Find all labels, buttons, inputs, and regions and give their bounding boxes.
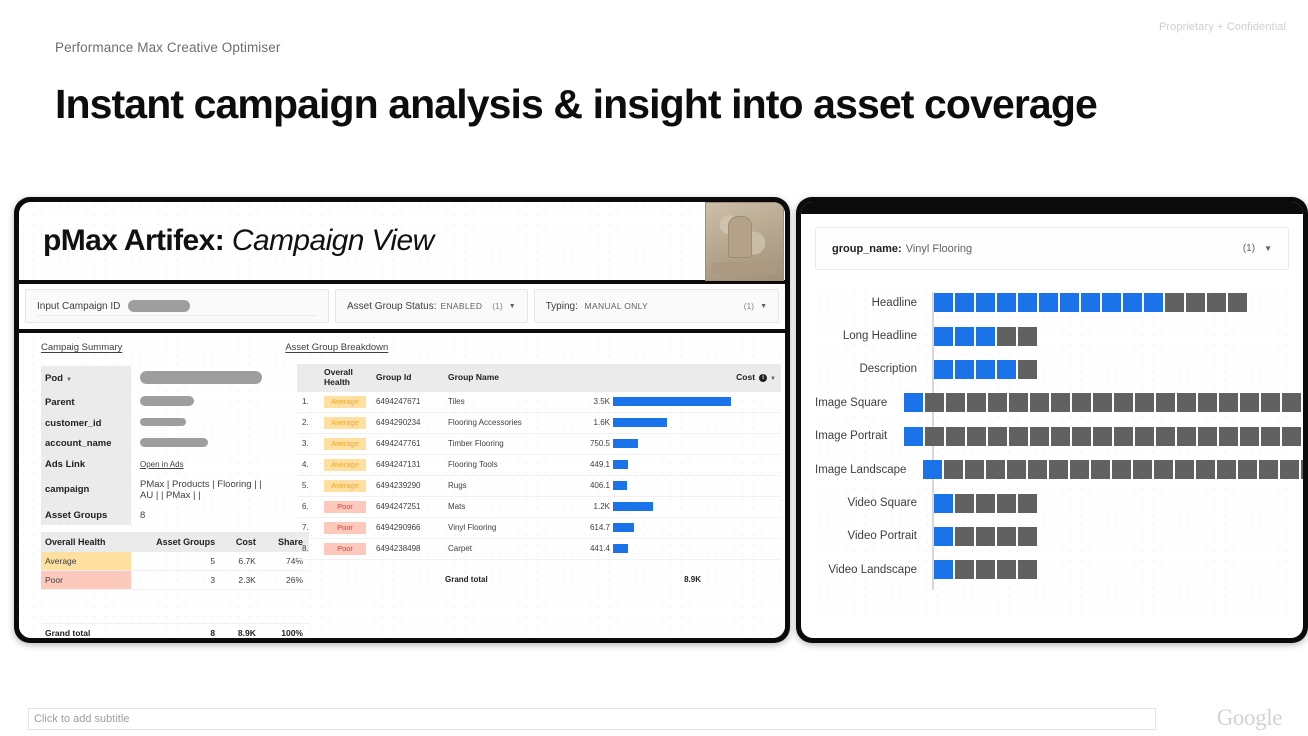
asset-missing-segment (1070, 460, 1089, 479)
chart-bar[interactable] (934, 560, 1037, 579)
table-row[interactable]: 3.Average6494247761Timber Flooring750.5 (297, 433, 781, 454)
row-group-id: 6494290966 (371, 517, 443, 538)
col-asset-groups[interactable]: Asset Groups (131, 532, 221, 552)
row-group-name: Carpet (443, 538, 569, 559)
summary-key-account-name: account_name (41, 433, 131, 454)
row-cost-bar (613, 523, 634, 532)
asset-group-status-label: Asset Group Status: (347, 301, 437, 312)
asset-missing-segment (1018, 560, 1037, 579)
asset-missing-segment (1112, 460, 1131, 479)
artifex-relief-image (705, 202, 784, 281)
asset-missing-segment (1280, 460, 1299, 479)
row-index: 3. (297, 433, 319, 454)
table-row[interactable]: 1.Average6494247671Tiles3.5K (297, 392, 781, 413)
row-group-id: 6494238498 (371, 538, 443, 559)
campaign-summary-table: Pod▼ Parent customer_id account_nam (41, 366, 269, 525)
table-header-row: Overall Health Group Id Group Name Costi… (297, 364, 781, 392)
asset-missing-segment (1165, 293, 1184, 312)
asset-present-segment (1123, 293, 1142, 312)
chart-category-label: Video Portrait (815, 530, 927, 542)
asset-missing-segment (967, 393, 986, 412)
col-cost[interactable]: Cost (221, 532, 262, 552)
health-grand-total-cost: 8.9K (221, 624, 262, 639)
chart-category-label: Description (815, 363, 927, 375)
asset-missing-segment (925, 393, 944, 412)
row-index: 8. (297, 538, 319, 559)
asset-missing-segment (1030, 427, 1049, 446)
asset-missing-segment (1228, 293, 1247, 312)
typing-count: (1) (744, 301, 754, 311)
chart-row: Image Portrait (815, 420, 1289, 453)
col-cost-label: Cost (736, 372, 755, 382)
table-row: Pod▼ (41, 366, 269, 391)
row-health: Poor (319, 517, 371, 538)
row-cost-value: 1.2K (574, 502, 610, 511)
dashboard-section-links: Campaig Summary Asset Group Breakdown (19, 333, 785, 357)
chart-row: Description (815, 353, 1289, 386)
row-cost: 614.7 (569, 517, 781, 538)
table-grand-total-row: Grand total 8 8.9K 100% (41, 624, 309, 639)
asset-missing-segment (1093, 393, 1112, 412)
row-cost: 3.5K (569, 392, 781, 413)
row-index: 7. (297, 517, 319, 538)
summary-value-account-name (131, 433, 269, 454)
asset-missing-segment (944, 460, 963, 479)
row-group-id: 6494290234 (371, 412, 443, 433)
row-index: 2. (297, 412, 319, 433)
summary-key-parent: Parent (41, 391, 131, 413)
table-row[interactable]: 8.Poor6494238498Carpet441.4 (297, 538, 781, 559)
slide-headline: Instant campaign analysis & insight into… (55, 82, 1097, 127)
asset-missing-segment (1219, 427, 1238, 446)
asset-missing-segment (1259, 460, 1278, 479)
row-group-name: Timber Flooring (443, 433, 569, 454)
asset-missing-segment (1198, 393, 1217, 412)
asset-present-segment (934, 560, 953, 579)
asset-missing-segment (1261, 393, 1280, 412)
summary-key-ads-link: Ads Link (41, 454, 131, 474)
breakdown-grand-total-label: Grand total (445, 575, 488, 584)
chevron-down-icon[interactable]: ▼ (760, 303, 767, 310)
row-cost-bar (613, 397, 731, 406)
asset-missing-segment (1240, 427, 1259, 446)
redacted-value (140, 418, 186, 426)
status-badge: Average (324, 417, 366, 429)
asset-missing-segment (1282, 393, 1301, 412)
asset-missing-segment (1177, 393, 1196, 412)
asset-present-segment (934, 494, 953, 513)
asset-present-segment (934, 293, 953, 312)
summary-value-asset-groups: 8 (131, 505, 269, 525)
asset-present-segment (904, 427, 923, 446)
row-group-name: Flooring Accessories (443, 412, 569, 433)
summary-key-asset-groups: Asset Groups (41, 505, 131, 525)
row-cost: 750.5 (569, 433, 781, 454)
row-cost-bar (613, 481, 627, 490)
asset-missing-segment (1018, 494, 1037, 513)
asset-missing-segment (1051, 393, 1070, 412)
asset-missing-segment (1009, 427, 1028, 446)
asset-missing-segment (1196, 460, 1215, 479)
asset-missing-segment (1072, 427, 1091, 446)
asset-present-segment (1039, 293, 1058, 312)
health-badge-average: Average (41, 552, 131, 571)
redacted-value (140, 438, 208, 447)
table-row[interactable]: 5.Average6494239290Rugs406.1 (297, 475, 781, 496)
row-health: Poor (319, 538, 371, 559)
asset-missing-segment (997, 560, 1016, 579)
row-cost: 406.1 (569, 475, 781, 496)
asset-missing-segment (1018, 527, 1037, 546)
table-row: Average 5 6.7K 74% (41, 552, 309, 571)
table-row: Parent (41, 391, 269, 413)
asset-missing-segment (1028, 460, 1047, 479)
dashboard-title-bar: pMax Artifex: Campaign View (19, 202, 785, 284)
row-health: Average (319, 454, 371, 475)
asset-present-segment (1018, 293, 1037, 312)
asset-missing-segment (1093, 427, 1112, 446)
asset-group-status-filter[interactable]: Asset Group Status: ENABLED (1) ▼ (335, 289, 528, 323)
chart-row: Video Portrait (815, 520, 1289, 553)
typing-value: MANUAL ONLY (585, 301, 648, 311)
chart-category-label: Image Square (815, 397, 897, 409)
chart-row: Headline (815, 286, 1289, 319)
summary-value-customer-id (131, 413, 269, 433)
table-row: Asset Groups 8 (41, 505, 269, 525)
summary-value-parent (131, 391, 269, 413)
asset-missing-segment (955, 527, 974, 546)
asset-present-segment (1060, 293, 1079, 312)
asset-missing-segment (1133, 460, 1152, 479)
chart-row: Image Landscape (815, 453, 1289, 486)
row-group-name: Mats (443, 496, 569, 517)
asset-present-segment (976, 293, 995, 312)
asset-missing-segment (1114, 427, 1133, 446)
asset-coverage-dashboard: group_name: Vinyl Flooring (1) ▼ Headlin… (801, 202, 1303, 638)
asset-missing-segment (1217, 460, 1236, 479)
table-row[interactable]: 6.Poor6494247251Mats1.2K (297, 496, 781, 517)
asset-group-status-count: (1) (492, 301, 502, 311)
col-overall-health[interactable]: Overall Health (41, 532, 131, 552)
right-dashboard-device: group_name: Vinyl Flooring (1) ▼ Headlin… (796, 197, 1308, 643)
row-group-id: 6494247251 (371, 496, 443, 517)
row-index: 4. (297, 454, 319, 475)
asset-present-segment (1144, 293, 1163, 312)
asset-present-segment (997, 360, 1016, 379)
row-group-id: 6494247761 (371, 433, 443, 454)
chevron-down-icon[interactable]: ▼ (66, 377, 72, 383)
group-name-filter-key: group_name: (832, 243, 902, 255)
asset-missing-segment (1135, 427, 1154, 446)
asset-missing-segment (965, 460, 984, 479)
summary-key-campaign: campaign (41, 474, 131, 505)
asset-missing-segment (955, 494, 974, 513)
status-badge: Average (324, 396, 366, 408)
asset-present-segment (934, 527, 953, 546)
summary-key-label: Pod (45, 373, 63, 384)
chart-rows-container: HeadlineLong HeadlineDescriptionImage Sq… (815, 286, 1289, 587)
asset-missing-segment (1219, 393, 1238, 412)
col-group-id[interactable]: Group Id (371, 364, 443, 392)
health-badge-poor: Poor (41, 571, 131, 590)
asset-present-segment (976, 327, 995, 346)
asset-missing-segment (988, 393, 1007, 412)
asset-present-segment (997, 293, 1016, 312)
status-badge: Poor (324, 501, 366, 513)
status-badge: Poor (324, 522, 366, 534)
left-dashboard-device: pMax Artifex: Campaign View Input Campai… (14, 197, 790, 643)
asset-missing-segment (997, 327, 1016, 346)
row-cost: 441.4 (569, 538, 781, 559)
typing-label: Typing: (546, 301, 578, 312)
dashboard-title-main: pMax Artifex: (43, 224, 224, 257)
health-grand-total-label: Grand total (41, 624, 131, 639)
row-cost-value: 614.7 (574, 523, 610, 532)
asset-missing-segment (1198, 427, 1217, 446)
slide-eyebrow: Performance Max Creative Optimiser (55, 40, 280, 55)
row-group-name: Rugs (443, 475, 569, 496)
table-spacer-row (41, 590, 309, 624)
summary-key-customer-id: customer_id (41, 413, 131, 433)
row-group-name: Vinyl Flooring (443, 517, 569, 538)
row-cost-bar (613, 544, 628, 553)
table-row: Ads Link Open in Ads (41, 454, 269, 474)
asset-missing-segment (1301, 460, 1303, 479)
table-header-row: Overall Health Asset Groups Cost Share (41, 532, 309, 552)
chevron-down-icon[interactable]: ▼ (509, 303, 516, 310)
col-cost[interactable]: Costi▼ (569, 364, 781, 392)
status-badge: Average (324, 438, 366, 450)
breakdown-table-body: 1.Average6494247671Tiles3.5K2.Average649… (297, 392, 781, 560)
health-poor-cost: 2.3K (221, 571, 262, 590)
campaign-id-redacted-value (128, 300, 190, 312)
dashboard-filter-bar: Input Campaign ID Asset Group Status: EN… (19, 284, 785, 333)
asset-missing-segment (1175, 460, 1194, 479)
chart-bar[interactable] (934, 293, 1247, 312)
chevron-left-icon[interactable]: ‹ (754, 636, 758, 638)
asset-missing-segment (1091, 460, 1110, 479)
summary-value-campaign: PMax | Products | Flooring | | AU | | PM… (131, 474, 269, 505)
asset-missing-segment (1156, 427, 1175, 446)
tab-campaign-summary[interactable]: Campaig Summary (41, 342, 122, 353)
table-row: Poor 3 2.3K 26% (41, 571, 309, 590)
dashboard-title: pMax Artifex: Campaign View (43, 224, 434, 258)
row-health: Average (319, 433, 371, 454)
table-row[interactable]: 2.Average6494290234Flooring Accessories1… (297, 412, 781, 433)
asset-missing-segment (1186, 293, 1205, 312)
row-group-id: 6494247131 (371, 454, 443, 475)
row-group-id: 6494239290 (371, 475, 443, 496)
asset-group-status-value: ENABLED (441, 301, 483, 311)
asset-missing-segment (1240, 393, 1259, 412)
row-index: 5. (297, 475, 319, 496)
asset-missing-segment (1030, 393, 1049, 412)
asset-missing-segment (986, 460, 1005, 479)
asset-present-segment (955, 360, 974, 379)
asset-missing-segment (1177, 427, 1196, 446)
row-health: Average (319, 475, 371, 496)
asset-missing-segment (1207, 293, 1226, 312)
col-overall-health[interactable]: Overall Health (319, 364, 371, 392)
asset-missing-segment (1238, 460, 1257, 479)
col-index (297, 364, 319, 392)
asset-missing-segment (1135, 393, 1154, 412)
row-cost: 1.6K (569, 412, 781, 433)
asset-missing-segment (1051, 427, 1070, 446)
summary-value-ads-link: Open in Ads (131, 454, 269, 474)
asset-missing-segment (997, 494, 1016, 513)
chart-row: Image Square (815, 386, 1289, 419)
asset-missing-segment (976, 560, 995, 579)
health-grand-total-share: 100% (262, 624, 309, 639)
asset-missing-segment (1282, 427, 1301, 446)
asset-present-segment (934, 360, 953, 379)
chart-bar[interactable] (923, 460, 1303, 479)
asset-missing-segment (988, 427, 1007, 446)
asset-missing-segment (946, 393, 965, 412)
row-cost: 1.2K (569, 496, 781, 517)
asset-present-segment (1081, 293, 1100, 312)
dashboard-title-italic: Campaign View (232, 224, 434, 257)
asset-present-segment (904, 393, 923, 412)
redacted-value (140, 371, 262, 384)
breakdown-pagination: 1 - 8 / 8 ‹ › (713, 636, 777, 638)
row-cost-value: 1.6K (574, 418, 610, 427)
row-cost-value: 406.1 (574, 481, 610, 490)
row-health: Average (319, 392, 371, 413)
chart-category-label: Video Landscape (815, 564, 927, 576)
chart-row: Video Square (815, 486, 1289, 519)
health-average-asset-groups: 5 (131, 552, 221, 571)
open-in-ads-link[interactable]: Open in Ads (140, 460, 184, 469)
asset-missing-segment (997, 527, 1016, 546)
chevron-down-icon[interactable]: ▼ (1264, 244, 1272, 253)
subtitle-placeholder-box[interactable]: Click to add subtitle (28, 708, 1156, 730)
group-name-filter-value: Vinyl Flooring (906, 243, 972, 255)
row-cost-value: 3.5K (574, 397, 610, 406)
asset-missing-segment (1154, 460, 1173, 479)
row-health: Average (319, 412, 371, 433)
asset-missing-segment (1018, 360, 1037, 379)
subtitle-placeholder-text: Click to add subtitle (34, 713, 129, 725)
asset-missing-segment (1009, 393, 1028, 412)
campaign-id-filter[interactable]: Input Campaign ID (25, 289, 329, 323)
dashboard-top-bar (801, 202, 1303, 214)
group-name-filter-count: (1) (1243, 243, 1255, 254)
row-cost: 449.1 (569, 454, 781, 475)
asset-missing-segment (1072, 393, 1091, 412)
table-row[interactable]: 7.Poor6494290966Vinyl Flooring614.7 (297, 517, 781, 538)
asset-present-segment (976, 360, 995, 379)
campaign-view-dashboard: pMax Artifex: Campaign View Input Campai… (19, 202, 785, 638)
asset-present-segment (1102, 293, 1121, 312)
chart-category-label: Headline (815, 297, 927, 309)
health-poor-asset-groups: 3 (131, 571, 221, 590)
asset-missing-segment (1114, 393, 1133, 412)
asset-missing-segment (1261, 427, 1280, 446)
row-group-id: 6494247671 (371, 392, 443, 413)
row-group-name: Tiles (443, 392, 569, 413)
asset-missing-segment (1007, 460, 1026, 479)
info-icon[interactable]: i (759, 374, 767, 382)
asset-missing-segment (1156, 393, 1175, 412)
row-cost-value: 441.4 (574, 544, 610, 553)
row-index: 1. (297, 392, 319, 413)
confidentiality-notice: Proprietary + Confidential (1159, 21, 1286, 33)
status-badge: Average (324, 480, 366, 492)
table-row: campaign PMax | Products | Flooring | | … (41, 474, 269, 505)
chart-category-label: Video Square (815, 497, 927, 509)
chart-bar[interactable] (934, 327, 1037, 346)
chart-category-label: Long Headline (815, 330, 927, 342)
asset-present-segment (923, 460, 942, 479)
overall-health-table: Overall Health Asset Groups Cost Share A… (41, 532, 309, 638)
asset-missing-segment (976, 527, 995, 546)
col-group-name[interactable]: Group Name (443, 364, 569, 392)
chart-row: Long Headline (815, 319, 1289, 352)
typing-filter[interactable]: Typing: MANUAL ONLY (1) ▼ (534, 289, 779, 323)
asset-missing-segment (925, 427, 944, 446)
row-cost-bar (613, 502, 653, 511)
asset-present-segment (955, 293, 974, 312)
chart-bar[interactable] (934, 360, 1037, 379)
sort-descending-icon[interactable]: ▼ (770, 376, 776, 382)
tab-asset-group-breakdown[interactable]: Asset Group Breakdown (285, 342, 388, 353)
asset-missing-segment (976, 494, 995, 513)
chart-category-label: Image Portrait (815, 430, 897, 442)
chart-bar[interactable] (904, 393, 1301, 412)
chart-category-label: Image Landscape (815, 464, 916, 476)
health-grand-total-asset-groups: 8 (131, 624, 221, 639)
table-row: account_name (41, 433, 269, 454)
slide-canvas: Proprietary + Confidential Performance M… (0, 0, 1308, 736)
asset-missing-segment (955, 560, 974, 579)
asset-missing-segment (1049, 460, 1068, 479)
status-badge: Average (324, 459, 366, 471)
asset-missing-segment (967, 427, 986, 446)
chart-bar[interactable] (904, 427, 1301, 446)
chart-row: Video Landscape (815, 553, 1289, 586)
google-logo: Google (1217, 705, 1282, 731)
health-average-cost: 6.7K (221, 552, 262, 571)
row-group-name: Flooring Tools (443, 454, 569, 475)
asset-group-breakdown-block: Overall Health Group Id Group Name Costi… (297, 364, 781, 560)
asset-missing-segment (1018, 327, 1037, 346)
chart-bar[interactable] (934, 494, 1037, 513)
campaign-id-label: Input Campaign ID (37, 301, 120, 312)
group-name-filter[interactable]: group_name: Vinyl Flooring (1) ▼ (815, 227, 1289, 270)
chevron-right-icon[interactable]: › (773, 636, 777, 638)
asset-coverage-chart: HeadlineLong HeadlineDescriptionImage Sq… (815, 286, 1289, 616)
chart-bar[interactable] (934, 527, 1037, 546)
row-index: 6. (297, 496, 319, 517)
breakdown-grand-total-row: Grand total 8.9K (297, 575, 779, 584)
row-cost-value: 449.1 (574, 460, 610, 469)
table-row[interactable]: 4.Average6494247131Flooring Tools449.1 (297, 454, 781, 475)
campaign-summary-block: Pod▼ Parent customer_id account_nam (41, 366, 269, 638)
summary-key-pod[interactable]: Pod▼ (41, 366, 131, 391)
row-cost-bar (613, 460, 628, 469)
redacted-value (140, 396, 194, 406)
summary-value-pod (131, 366, 269, 391)
table-row: customer_id (41, 413, 269, 433)
row-cost-bar (613, 439, 638, 448)
asset-missing-segment (946, 427, 965, 446)
row-cost-bar (613, 418, 667, 427)
dashboard-body: Campaig Summary Asset Group Breakdown Po… (19, 333, 785, 638)
row-cost-value: 750.5 (574, 439, 610, 448)
breakdown-grand-total-cost: 8.9K (684, 575, 701, 584)
